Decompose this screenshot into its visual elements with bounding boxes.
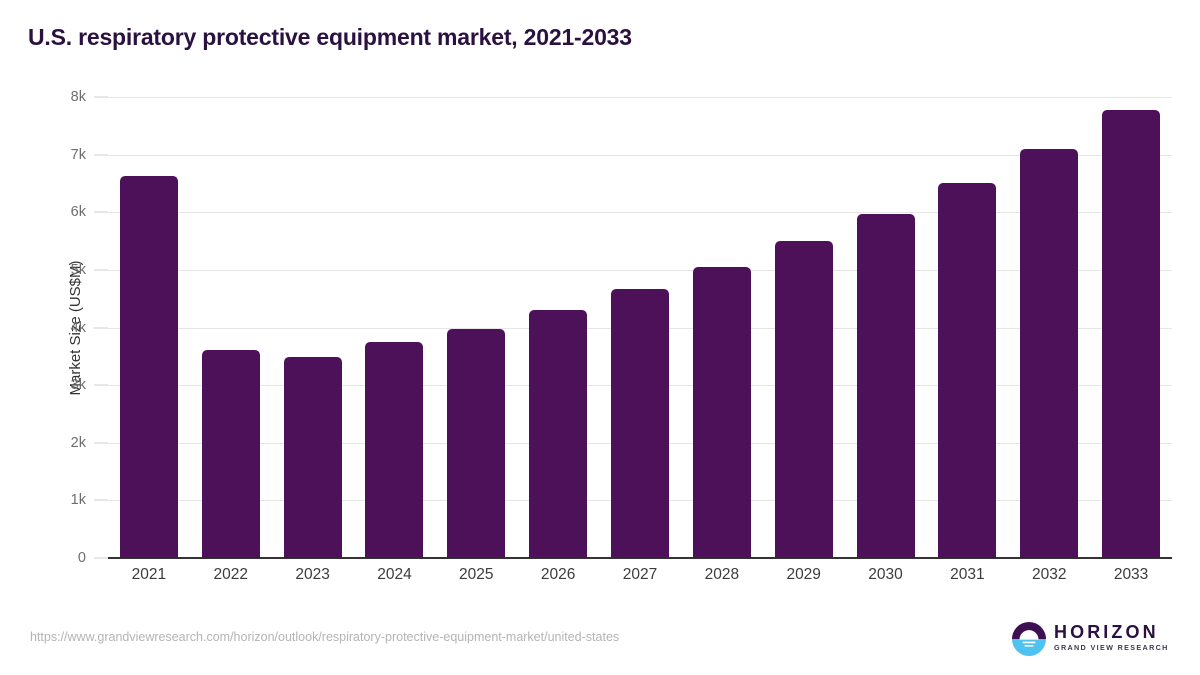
y-tick-mark — [94, 500, 108, 501]
bar[interactable] — [120, 176, 178, 558]
y-tick-label: 4k — [0, 320, 96, 336]
logo-text: HORIZON GRAND VIEW RESEARCH — [1054, 623, 1169, 653]
y-tick-mark — [94, 269, 108, 270]
bar-series — [108, 97, 1172, 558]
y-tick-mark — [94, 558, 108, 559]
logo-wordmark: HORIZON — [1054, 623, 1169, 642]
bar[interactable] — [447, 329, 505, 558]
y-tick-mark — [94, 97, 108, 98]
x-tick-label: 2025 — [459, 566, 493, 584]
y-tick-label: 5k — [0, 262, 96, 278]
x-tick-label: 2023 — [295, 566, 329, 584]
y-axis: 01k2k3k4k5k6k7k8k — [0, 0, 98, 675]
y-tick-label: 3k — [0, 377, 96, 393]
x-tick-label: 2029 — [786, 566, 820, 584]
bar[interactable] — [365, 342, 423, 558]
horizon-logo[interactable]: HORIZON GRAND VIEW RESEARCH — [1012, 620, 1172, 658]
page-title: U.S. respiratory protective equipment ma… — [28, 24, 632, 51]
y-tick-label: 1k — [0, 492, 96, 508]
bar[interactable] — [1020, 149, 1078, 558]
y-tick-label: 7k — [0, 147, 96, 163]
y-tick-label: 6k — [0, 204, 96, 220]
x-tick-label: 2026 — [541, 566, 575, 584]
y-tick-mark — [94, 154, 108, 155]
bar[interactable] — [938, 183, 996, 558]
bar[interactable] — [529, 310, 587, 558]
y-tick-label: 2k — [0, 435, 96, 451]
chart-page: U.S. respiratory protective equipment ma… — [0, 0, 1200, 675]
bar[interactable] — [775, 241, 833, 558]
x-tick-label: 2030 — [868, 566, 902, 584]
y-tick-mark — [94, 385, 108, 386]
y-tick-mark — [94, 212, 108, 213]
x-tick-label: 2027 — [623, 566, 657, 584]
y-tick-label: 8k — [0, 89, 96, 105]
bar[interactable] — [693, 267, 751, 558]
x-tick-label: 2033 — [1114, 566, 1148, 584]
logo-tagline: GRAND VIEW RESEARCH — [1054, 643, 1169, 653]
bar[interactable] — [202, 350, 260, 558]
source-url[interactable]: https://www.grandviewresearch.com/horizo… — [30, 630, 619, 644]
horizon-sunrise-circle-icon — [1012, 622, 1046, 656]
bar[interactable] — [611, 289, 669, 558]
x-tick-label: 2031 — [950, 566, 984, 584]
bar[interactable] — [284, 357, 342, 558]
x-tick-label: 2028 — [705, 566, 739, 584]
y-tick-mark — [94, 327, 108, 328]
x-tick-label: 2021 — [132, 566, 166, 584]
bar[interactable] — [1102, 110, 1160, 558]
x-tick-label: 2022 — [214, 566, 248, 584]
x-tick-label: 2024 — [377, 566, 411, 584]
y-tick-mark — [94, 442, 108, 443]
x-axis: 2021202220232024202520262027202820292030… — [108, 566, 1172, 594]
x-tick-label: 2032 — [1032, 566, 1066, 584]
bar[interactable] — [857, 214, 915, 558]
y-tick-label: 0 — [0, 550, 96, 566]
